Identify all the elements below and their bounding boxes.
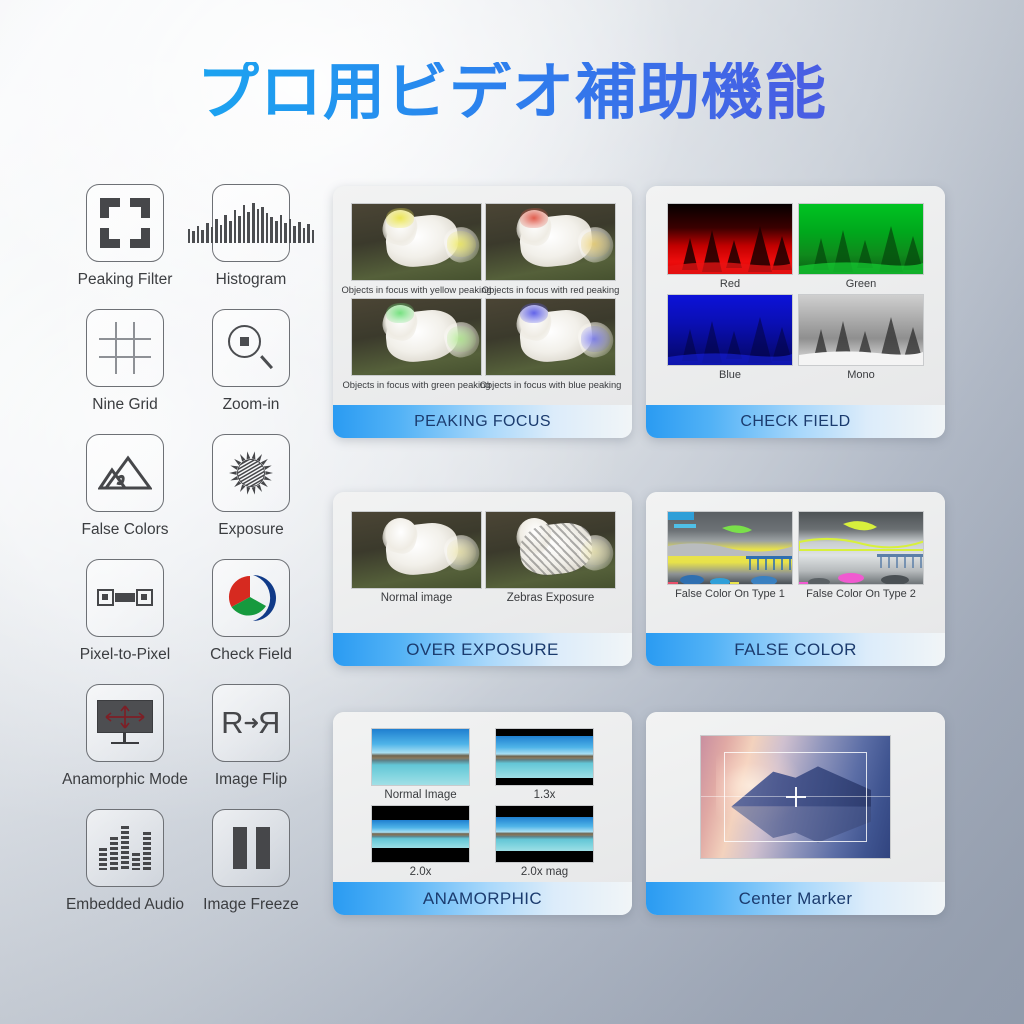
card-banner: Center Marker — [646, 882, 945, 915]
feature-item-zoom-in[interactable]: Zoom-in — [188, 309, 314, 434]
thumb-caption: Blue — [719, 369, 741, 381]
feature-item-histogram[interactable]: Histogram — [188, 184, 314, 309]
feature-item-image-freeze[interactable]: Image Freeze — [188, 809, 314, 934]
feature-label: Peaking Filter — [78, 271, 173, 289]
card-over-exposure[interactable]: Normal image Zebras Exposure OVER EXPOSU… — [333, 492, 632, 666]
card-false-color[interactable]: False Color On Type 1 — [646, 492, 945, 666]
sample-cell: Normal image — [351, 511, 482, 604]
thumb-caption: Red — [720, 278, 740, 290]
rgb-pie-icon — [212, 559, 290, 637]
thumb-anamorphic-13x — [495, 728, 594, 786]
nine-grid-icon — [86, 309, 164, 387]
thumb-false-color-type1 — [667, 511, 793, 585]
card-banner: CHECK FIELD — [646, 405, 945, 438]
thumb-normal-image — [351, 511, 482, 589]
sample-cell: 2.0x mag — [490, 805, 600, 878]
card-anamorphic[interactable]: Normal Image 1.3x 2.0x — [333, 712, 632, 915]
sun-icon — [212, 434, 290, 512]
thumb-caption: 2.0x — [410, 866, 432, 878]
feature-label: Embedded Audio — [66, 896, 184, 914]
feature-item-anamorphic-mode[interactable]: Anamorphic Mode — [62, 684, 188, 809]
feature-label: Image Flip — [215, 771, 287, 789]
sample-cell: False Color On Type 1 — [666, 511, 794, 600]
thumb-caption: Mono — [847, 369, 875, 381]
sample-cell: Blue — [666, 294, 794, 381]
peaking-brackets-icon — [86, 184, 164, 262]
card-banner: OVER EXPOSURE — [333, 633, 632, 666]
thumb-caption: False Color On Type 1 — [675, 588, 785, 600]
feature-label: Check Field — [210, 646, 292, 664]
card-banner: PEAKING FOCUS — [333, 405, 632, 438]
thumb-caption: 1.3x — [534, 789, 556, 801]
thumb-green-channel — [798, 203, 924, 275]
thumb-caption: False Color On Type 2 — [806, 588, 916, 600]
sample-cell: Mono — [797, 294, 925, 381]
thumb-anamorphic-20x-mag — [495, 805, 594, 863]
thumb-caption: Objects in focus with yellow peaking — [341, 284, 491, 295]
feature-item-image-flip[interactable]: R➜R Image Flip — [188, 684, 314, 809]
thumb-caption: Green — [846, 278, 877, 290]
feature-label: Exposure — [218, 521, 283, 539]
audio-bars-icon — [86, 809, 164, 887]
thumb-caption: Objects in focus with green peaking — [343, 379, 491, 390]
thumb-blue-channel — [667, 294, 793, 366]
card-center-marker[interactable]: Center Marker — [646, 712, 945, 915]
thumb-zebras-exposure — [485, 511, 616, 589]
page-title: プロ用ビデオ補助機能 — [0, 62, 1024, 124]
thumb-center-marker — [700, 735, 891, 859]
histogram-icon — [212, 184, 290, 262]
feature-item-pixel-to-pixel[interactable]: Pixel-to-Pixel — [62, 559, 188, 684]
feature-icon-grid: Peaking Filter Histogram Nine Grid Zoom-… — [62, 184, 312, 934]
thumb-caption: Normal Image — [384, 789, 456, 801]
sample-cell: Objects in focus with green peaking — [351, 298, 482, 390]
monitor-icon — [86, 684, 164, 762]
thumb-caption: Objects in focus with red peaking — [482, 284, 620, 295]
thumb-mono-channel — [798, 294, 924, 366]
feature-label: Anamorphic Mode — [62, 771, 188, 789]
card-check-field[interactable]: Red Green — [646, 186, 945, 438]
feature-item-check-field[interactable]: Check Field — [188, 559, 314, 684]
feature-item-embedded-audio[interactable]: Embedded Audio — [62, 809, 188, 934]
thumb-green-peaking — [351, 298, 482, 376]
sample-cell: Normal Image — [366, 728, 476, 801]
thumb-anamorphic-20x — [371, 805, 470, 863]
thumb-blue-peaking — [485, 298, 616, 376]
sample-cell: 1.3x — [490, 728, 600, 801]
pause-icon — [212, 809, 290, 887]
thumb-yellow-peaking — [351, 203, 482, 281]
card-peaking-focus[interactable]: Objects in focus with yellow peaking Obj… — [333, 186, 632, 438]
thumb-red-peaking — [485, 203, 616, 281]
thumb-caption: Objects in focus with blue peaking — [480, 379, 622, 390]
sample-cell: Zebras Exposure — [485, 511, 616, 604]
pixel-to-pixel-icon — [86, 559, 164, 637]
magnifier-icon — [212, 309, 290, 387]
feature-label: Nine Grid — [92, 396, 157, 414]
feature-item-false-colors[interactable]: False Colors — [62, 434, 188, 559]
mountain-icon — [86, 434, 164, 512]
feature-label: Zoom-in — [223, 396, 280, 414]
feature-item-peaking-filter[interactable]: Peaking Filter — [62, 184, 188, 309]
sample-cell: Red — [666, 203, 794, 290]
card-banner: ANAMORPHIC — [333, 882, 632, 915]
image-flip-icon: R➜R — [212, 684, 290, 762]
sample-cell: 2.0x — [366, 805, 476, 878]
thumb-caption: 2.0x mag — [521, 866, 568, 878]
feature-label: False Colors — [82, 521, 169, 539]
thumb-anamorphic-normal — [371, 728, 470, 786]
thumb-caption: Normal image — [381, 592, 453, 604]
sample-cell: Objects in focus with blue peaking — [485, 298, 616, 390]
thumb-red-channel — [667, 203, 793, 275]
feature-label: Histogram — [216, 271, 287, 289]
feature-item-nine-grid[interactable]: Nine Grid — [62, 309, 188, 434]
sample-cell: Objects in focus with red peaking — [485, 203, 616, 295]
sample-cell: False Color On Type 2 — [797, 511, 925, 600]
card-banner: FALSE COLOR — [646, 633, 945, 666]
feature-item-exposure[interactable]: Exposure — [188, 434, 314, 559]
sample-cell: Green — [797, 203, 925, 290]
feature-label: Pixel-to-Pixel — [80, 646, 170, 664]
feature-label: Image Freeze — [203, 896, 299, 914]
thumb-caption: Zebras Exposure — [507, 592, 595, 604]
thumb-false-color-type2 — [798, 511, 924, 585]
sample-cell: Objects in focus with yellow peaking — [351, 203, 482, 295]
